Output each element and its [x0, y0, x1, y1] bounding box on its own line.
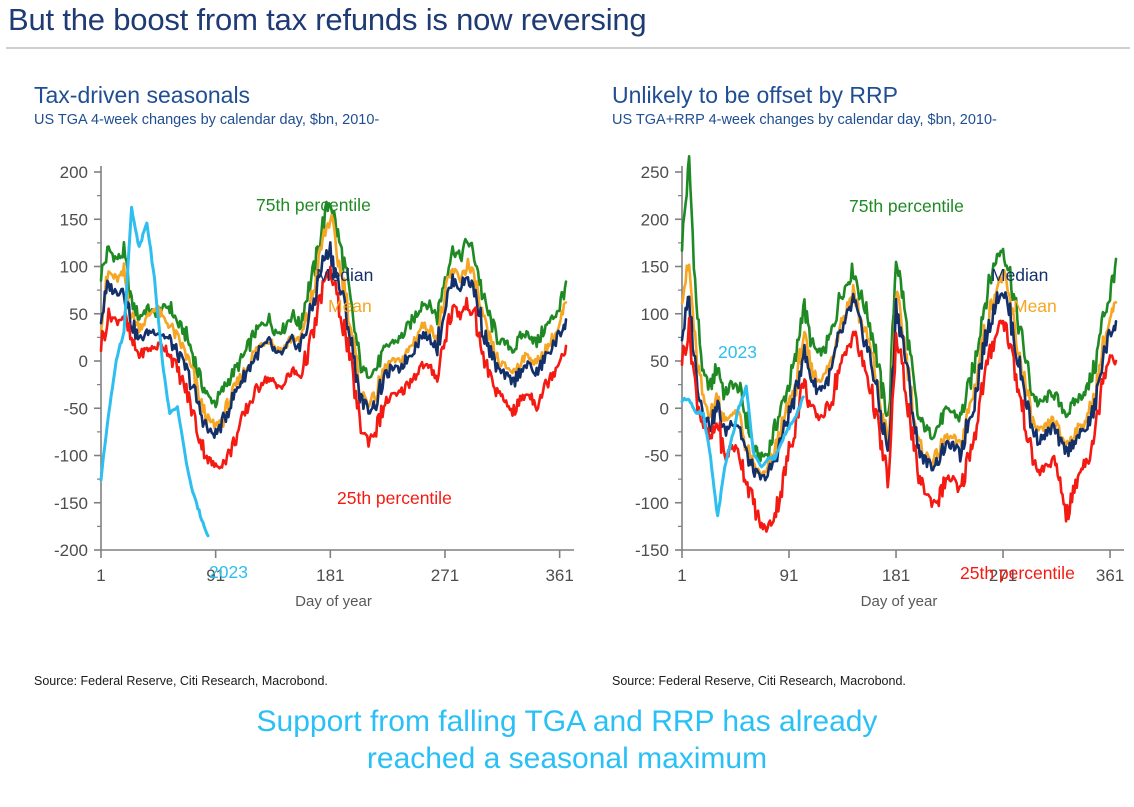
y-tick-label: 150 [641, 258, 669, 277]
y-tick-label: 200 [60, 163, 88, 182]
line-chart-right: -150-100-50050100150200250191181271361Da… [604, 140, 1134, 640]
y-tick-label: -150 [635, 541, 669, 560]
chart-title-right: Unlikely to be offset by RRP [612, 82, 898, 109]
y-tick-label: 100 [641, 305, 669, 324]
title-divider [6, 47, 1130, 49]
y-tick-label: -50 [63, 399, 88, 418]
chart-subtitle-right: US TGA+RRP 4-week changes by calendar da… [612, 112, 997, 128]
x-tick-label: 361 [1096, 566, 1124, 585]
x-tick-label: 361 [545, 566, 573, 585]
x-axis-title: Day of year [295, 593, 372, 610]
y-tick-label: 50 [69, 305, 88, 324]
mean-label: Mean [1013, 296, 1057, 316]
x-axis-title: Day of year [861, 593, 938, 610]
y-tick-label: -100 [635, 494, 669, 513]
x-tick-label: 271 [431, 566, 459, 585]
source-note-right: Source: Federal Reserve, Citi Research, … [612, 674, 906, 688]
page-title: But the boost from tax refunds is now re… [8, 2, 1128, 38]
line-chart-left: -200-150-100-50050100150200191181271361D… [26, 140, 586, 640]
p75-label: 75th percentile [256, 195, 371, 215]
y-tick-label: -100 [54, 447, 88, 466]
x-tick-label: 91 [780, 566, 799, 585]
median-label: Median [316, 265, 373, 285]
x-tick-label: 181 [882, 566, 910, 585]
source-note-left: Source: Federal Reserve, Citi Research, … [34, 674, 328, 688]
x-tick-label: 181 [316, 566, 344, 585]
median-label: Median [991, 265, 1048, 285]
p25-label: 25th percentile [960, 563, 1075, 583]
y-tick-label: 100 [60, 258, 88, 277]
x-tick-label: 1 [677, 566, 686, 585]
chart-subtitle-left: US TGA 4-week changes by calendar day, $… [34, 112, 379, 128]
y-tick-label: -200 [54, 541, 88, 560]
plot-area-left: -200-150-100-50050100150200191181271361D… [26, 140, 586, 640]
y-tick-label: -50 [644, 447, 669, 466]
y-tick-label: 50 [650, 352, 669, 371]
y-tick-label: 150 [60, 210, 88, 229]
p75-label: 75th percentile [849, 196, 964, 216]
footer-caption: Support from falling TGA and RRP has alr… [0, 704, 1134, 777]
y-tick-label: -150 [54, 494, 88, 513]
y-tick-label: 200 [641, 210, 669, 229]
year2023-label: 2023 [718, 342, 757, 362]
y-tick-label: 250 [641, 163, 669, 182]
mean-label: Mean [328, 296, 372, 316]
year2023-label: 2023 [209, 562, 248, 582]
chart-panel-left: Tax-driven seasonals US TGA 4-week chang… [26, 78, 586, 698]
chart-title-left: Tax-driven seasonals [34, 82, 250, 109]
footer-caption-line-2: reached a seasonal maximum [0, 741, 1134, 778]
plot-area-right: -150-100-50050100150200250191181271361Da… [604, 140, 1134, 640]
chart-panel-right: Unlikely to be offset by RRP US TGA+RRP … [604, 78, 1134, 698]
y-tick-label: 0 [79, 352, 88, 371]
p25-label: 25th percentile [337, 488, 452, 508]
footer-caption-line-1: Support from falling TGA and RRP has alr… [0, 704, 1134, 741]
y-tick-label: 0 [660, 399, 669, 418]
x-tick-label: 1 [96, 566, 105, 585]
